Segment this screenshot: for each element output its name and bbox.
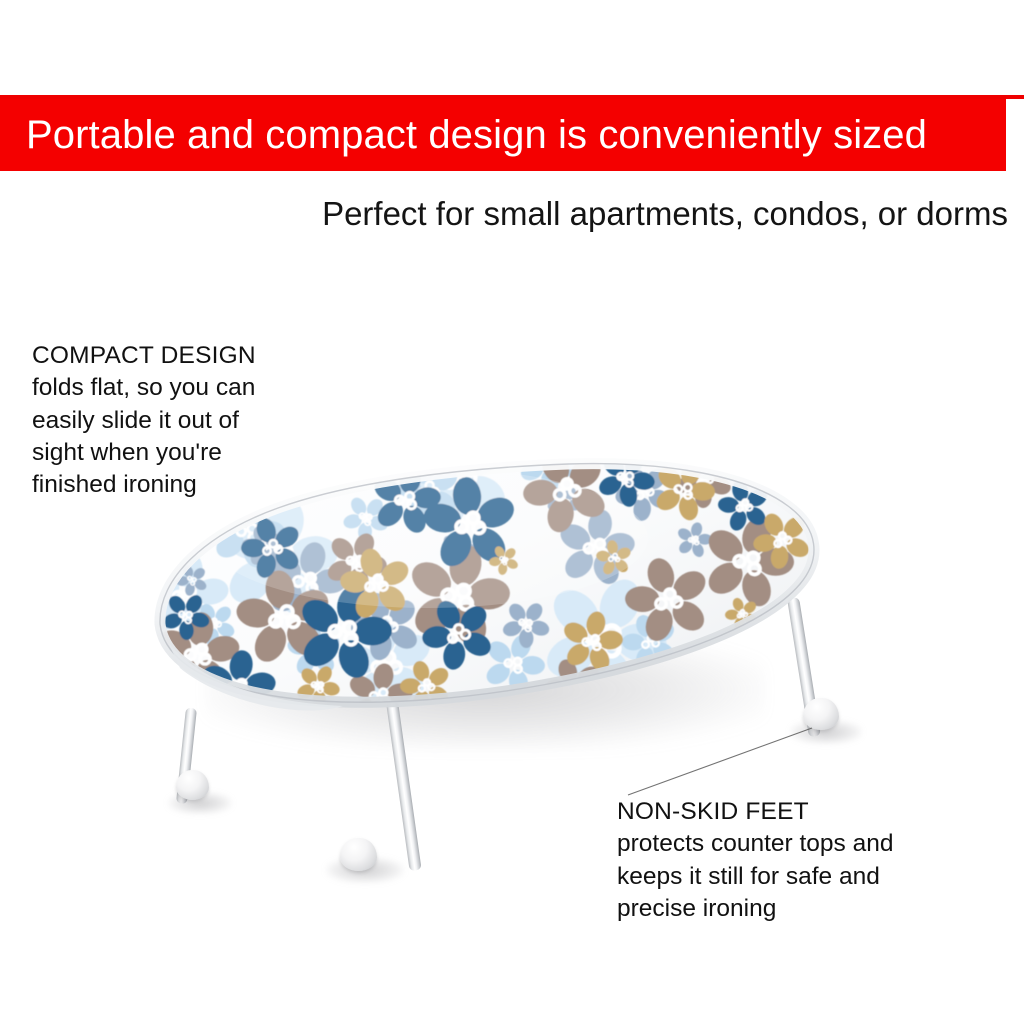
non-skid-foot-left xyxy=(176,770,209,800)
product-photo xyxy=(0,330,1024,950)
non-skid-foot-center xyxy=(340,838,377,871)
headline-banner: Portable and compact design is convenien… xyxy=(0,99,1006,171)
ironing-board-cover xyxy=(128,428,828,748)
banner-title: Portable and compact design is convenien… xyxy=(0,115,927,155)
subtitle-text: Perfect for small apartments, condos, or… xyxy=(0,196,1008,232)
ironing-board-top xyxy=(128,428,828,748)
